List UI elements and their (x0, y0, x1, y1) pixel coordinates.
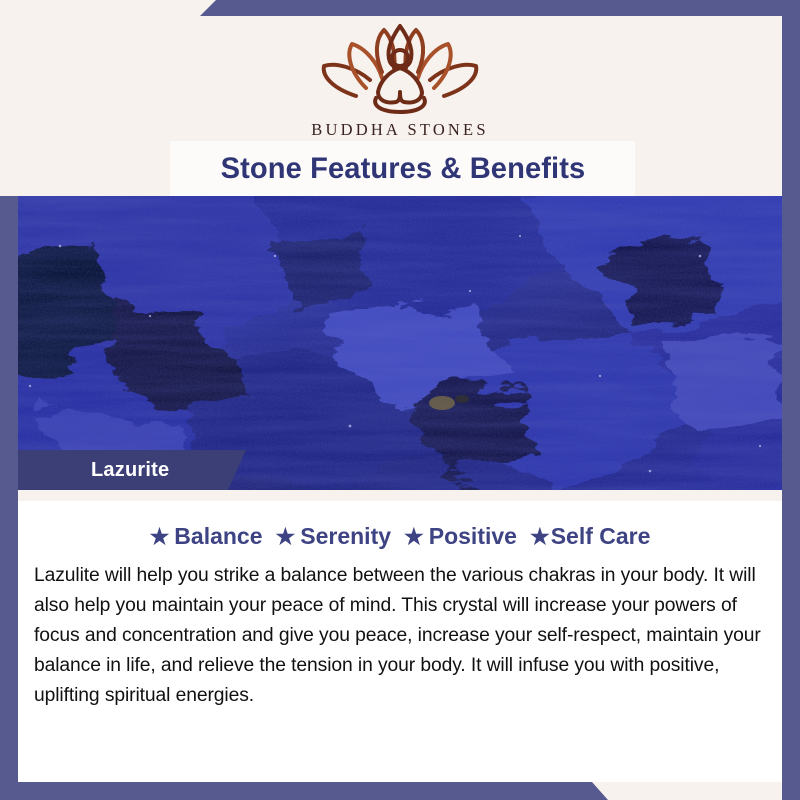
stone-name-label: Lazurite (91, 459, 169, 482)
keyword-label: Self Care (551, 523, 651, 550)
star-icon: ★ (530, 526, 550, 548)
keyword-balance: ★ Balance (150, 523, 263, 550)
stone-description: Lazulite will help you strike a balance … (34, 561, 766, 711)
frame-bottom-accent (0, 782, 800, 800)
page-title: Stone Features & Benefits (220, 152, 585, 186)
keyword-label: Balance (174, 523, 262, 550)
stone-photo (0, 196, 800, 490)
frame-right-accent (782, 0, 800, 800)
frame-left-accent (0, 196, 18, 800)
content-panel: ★ Balance ★ Serenity ★ Positive ★ Self C… (18, 501, 782, 782)
star-icon: ★ (404, 526, 424, 548)
lotus-meditation-icon (310, 18, 490, 118)
keyword-label: Positive (429, 523, 517, 550)
stone-info-poster: BUDDHA STONES Stone Features & Benefits (0, 0, 800, 800)
keyword-self-care: ★ Self Care (530, 523, 650, 550)
brand-logo: BUDDHA STONES (0, 18, 800, 140)
keyword-positive: ★ Positive (404, 523, 517, 550)
keyword-label: Serenity (300, 523, 391, 550)
brand-name: BUDDHA STONES (0, 120, 800, 140)
stone-photo-texture (0, 196, 800, 490)
keyword-serenity: ★ Serenity (276, 523, 392, 550)
stone-name-tag: Lazurite (18, 450, 246, 490)
keyword-list: ★ Balance ★ Serenity ★ Positive ★ Self C… (18, 523, 782, 550)
star-icon: ★ (276, 526, 296, 548)
content-top-strip (18, 490, 782, 501)
star-icon: ★ (150, 526, 170, 548)
title-banner: Stone Features & Benefits (170, 141, 635, 196)
